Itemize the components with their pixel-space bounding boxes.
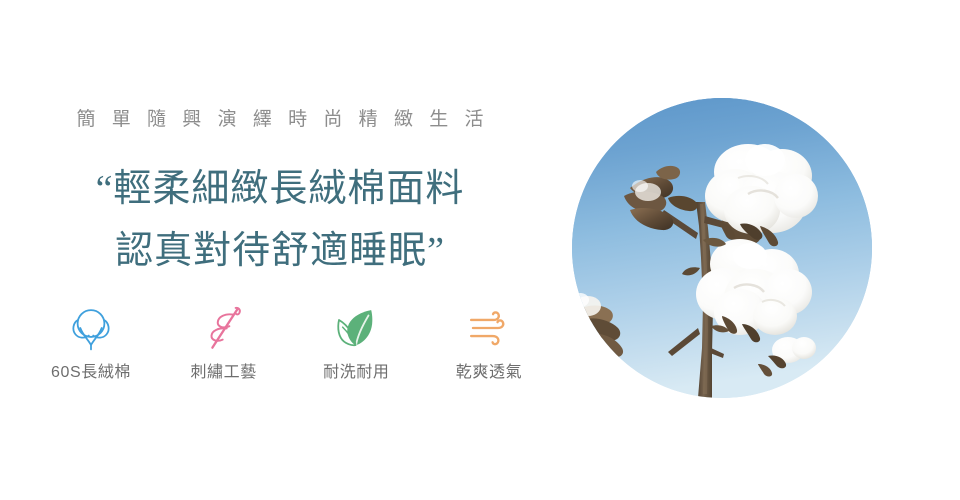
banner-subtitle: 簡 單 隨 興 演 繹 時 尚 精 緻 生 活 (0, 108, 560, 133)
text-column: 簡 單 隨 興 演 繹 時 尚 精 緻 生 活 “輕柔細緻長絨棉面料 認真對待舒… (0, 0, 560, 500)
feature-item-breathable[interactable]: 乾爽透氣 (428, 300, 550, 382)
cotton-boll-icon (63, 300, 119, 356)
product-banner: 簡 單 隨 興 演 繹 時 尚 精 緻 生 活 “輕柔細緻長絨棉面料 認真對待舒… (0, 0, 960, 500)
feature-item-cotton[interactable]: 60S長絨棉 (30, 300, 152, 382)
leaf-icon (328, 300, 384, 356)
headline-line-2: 認真對待舒適睡眠” (0, 220, 560, 282)
feature-label-breathable: 乾爽透氣 (456, 363, 522, 382)
feature-label-embroidery: 刺繡工藝 (190, 363, 256, 382)
feature-label-durable: 耐洗耐用 (323, 363, 389, 382)
needle-thread-icon (196, 300, 252, 356)
feature-item-embroidery[interactable]: 刺繡工藝 (163, 300, 285, 382)
headline-line-1: “輕柔細緻長絨棉面料 (0, 158, 560, 220)
wind-icon (461, 300, 517, 356)
feature-label-cotton: 60S長絨棉 (51, 363, 131, 382)
feature-list: 60S長絨棉 刺繡工藝 (30, 300, 550, 382)
banner-headline: “輕柔細緻長絨棉面料 認真對待舒適睡眠” (0, 158, 560, 282)
feature-item-durable[interactable]: 耐洗耐用 (295, 300, 417, 382)
cotton-plant-photo (572, 98, 872, 398)
